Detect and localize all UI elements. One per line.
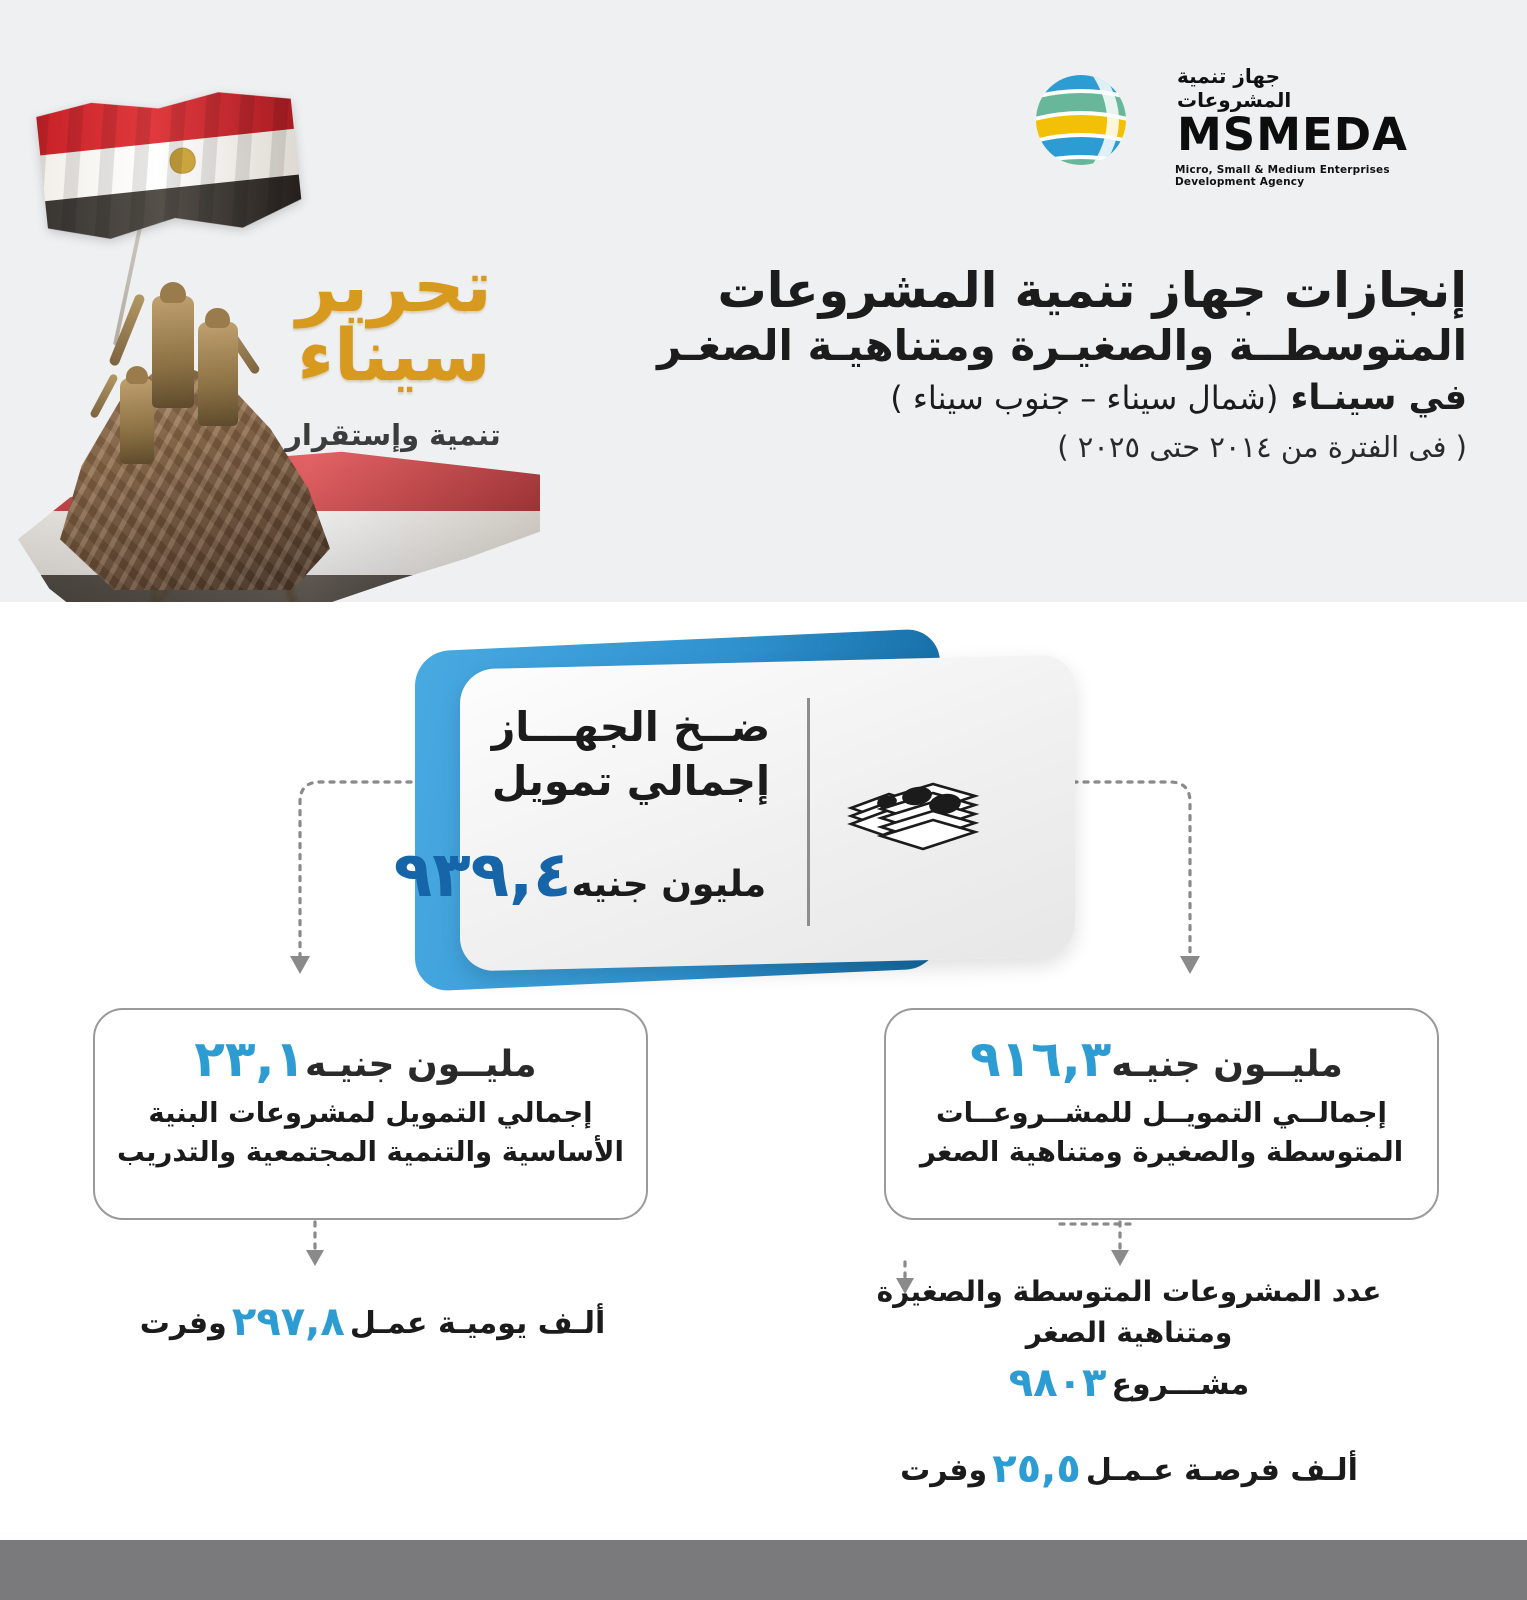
page-title-line1: إنجازات جهاز تنمية المشروعات [567,262,1467,320]
soldier-2-helmet [205,308,230,328]
sub-card-msme-finance: مليــون جنيـه٩١٦,٣ إجمالــي التمويــل لل… [884,1008,1439,1220]
soldier-1-helmet [160,282,186,303]
sub-card-infrastructure-finance: مليــون جنيـه٢٣,١ إجمالي التمويل لمشروعا… [93,1008,648,1220]
main-card-divider [807,698,810,926]
header-section: تحرير سيناء تنمية وإستقرار [0,0,1527,602]
sub-card-right-unit: مليــون جنيـه [1111,1044,1343,1085]
hero-gold-title: تحرير سيناء [260,252,528,390]
main-metric-card: ضــخ الجهـــاز إجمالي تمويل [415,640,1075,985]
page-title-line3: في سينـاء (شمال سيناء – جنوب سيناء ) [567,372,1467,425]
leaf-right-count-value: ٩٨٠٣ [1009,1360,1107,1406]
sub-card-left-unit: مليــون جنيـه [305,1044,537,1085]
soldier-3-helmet [126,366,148,384]
page-title-line3-bold: في سينـاء [1290,378,1467,418]
arrow-head-left-leaf [306,1250,324,1266]
sub-card-right-value-row: مليــون جنيـه٩١٦,٣ [886,1030,1437,1088]
diagram-section: ضــخ الجهـــاز إجمالي تمويل [0,602,1527,1532]
sub-card-right-description: إجمالــي التمويــل للمشــروعــات المتوسط… [908,1094,1415,1172]
main-card-value-row: مليون جنيه٩٣٩,٤ [385,838,785,911]
arrow-head-right [1180,956,1200,974]
leaf-left-value: ٢٩٧,٨ [232,1299,345,1345]
arrow-head-left [290,956,310,974]
main-card-surface: ضــخ الجهـــاز إجمالي تمويل [460,654,1075,971]
soldier-1-arm [108,293,146,367]
soldier-1 [152,296,194,408]
page-title-period: ( فى الفترة من ٢٠١٤ حتى ٢٠٢٥ ) [567,425,1467,470]
main-card-title-line2: إجمالي تمويل [487,754,775,808]
arrow-head-right-leaf [1111,1250,1129,1266]
egyptian-flag-icon [35,82,303,248]
sinai-hero-illustration: تحرير سيناء تنمية وإستقرار [0,60,560,602]
leaf-right-jobs-value: ٢٥,٥ [992,1446,1080,1492]
main-card-title-line1: ضــخ الجهـــاز [487,700,775,754]
logo-arabic-line1: جهاز تنمية [1177,64,1427,88]
leaf-left-prefix: وفرت [140,1306,227,1341]
soldier-2 [198,322,238,426]
leaf-right-jobs-line: ألـف فرصـة عـمـل ٢٥,٥ وفرت [819,1439,1439,1499]
leaf-right-jobs-prefix: وفرت [900,1453,987,1488]
leaf-right-count-line: مشـــروع ٩٨٠٣ [819,1353,1439,1413]
leaf-right-count-unit: مشـــروع [1112,1367,1250,1402]
leaf-right-jobs-suffix: ألـف فرصـة عـمـل [1086,1453,1358,1488]
header-title-block: إنجازات جهاز تنمية المشروعات المتوسطــة … [567,262,1467,470]
hero-subtitle: تنمية وإستقرار [260,418,526,452]
globe-logo-icon [1031,70,1131,170]
leaf-left-line: ألـف يوميـة عمـل ٢٩٧,٨ وفرت [100,1292,645,1352]
sub-card-left-value: ٢٣,١ [194,1030,305,1088]
page-title-line3-rest: (شمال سيناء – جنوب سيناء ) [890,379,1278,417]
leaf-right-projects: عدد المشروعات المتوسطة والصغيرة ومتناهية… [819,1272,1439,1499]
soldier-3 [120,378,154,464]
infographic-page: تحرير سيناء تنمية وإستقرار [0,0,1527,1600]
bottom-gray-bar [0,1540,1527,1600]
page-title-line2: المتوسطــة والصغيـرة ومتناهيـة الصغـر [567,320,1467,373]
main-card-value: ٩٣٩,٤ [394,838,572,911]
logo-tagline: Micro, Small & Medium Enterprises Develo… [1175,164,1427,188]
sub-card-left-value-row: مليــون جنيـه٢٣,١ [95,1030,646,1088]
sub-card-left-description: إجمالي التمويل لمشروعات البنية الأساسية … [117,1094,624,1172]
sub-card-right-value: ٩١٦,٣ [970,1030,1111,1088]
leaf-right-description: عدد المشروعات المتوسطة والصغيرة ومتناهية… [819,1272,1439,1353]
money-stack-icon [843,762,983,862]
main-card-unit: مليون جنيه [572,864,767,905]
main-card-title: ضــخ الجهـــاز إجمالي تمويل [487,700,775,808]
logo-arabic-name: جهاز تنمية المشروعات [1177,64,1427,113]
logo-brand-text: MSMEDA [1177,112,1427,157]
msmeda-logo: جهاز تنمية المشروعات MSMEDA Micro, Small… [1067,56,1427,188]
leaf-left-workdays: ألـف يوميـة عمـل ٢٩٧,٨ وفرت [100,1292,645,1352]
bottom-white-strip [0,1532,1527,1540]
leaf-left-suffix: ألـف يوميـة عمـل [350,1306,605,1341]
